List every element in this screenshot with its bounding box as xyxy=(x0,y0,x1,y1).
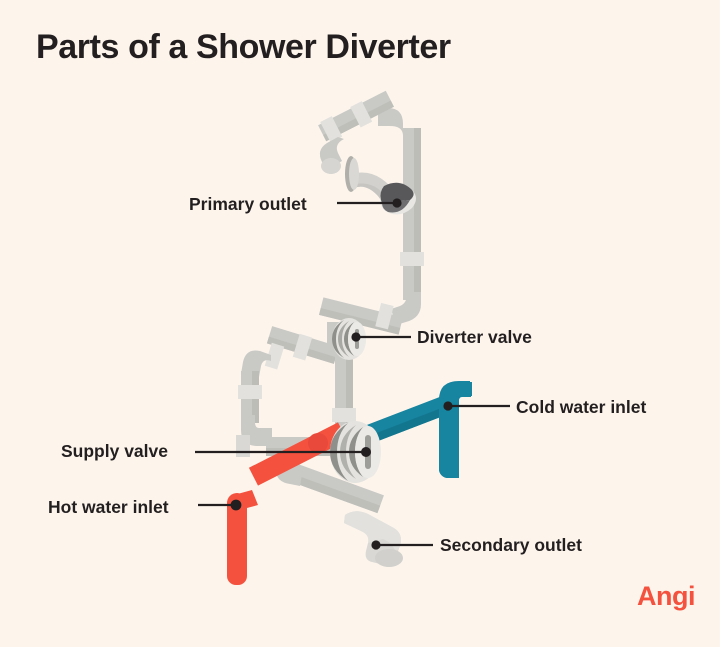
leader-dot-primary-outlet xyxy=(392,198,401,207)
pipe-coupling-bottom-left xyxy=(236,435,250,457)
label-supply-valve: Supply valve xyxy=(61,441,168,462)
pipe-coupling-mid-upper xyxy=(400,252,424,266)
leader-dot-cold-water-inlet xyxy=(443,401,452,410)
leader-dot-secondary-outlet xyxy=(371,540,380,549)
label-cold-water-inlet: Cold water inlet xyxy=(516,397,646,418)
pipe-riser-shadow xyxy=(414,128,421,252)
pipe-coupling-vertical-left xyxy=(238,385,262,399)
label-primary-outlet: Primary outlet xyxy=(189,194,307,215)
label-hot-water-inlet: Hot water inlet xyxy=(48,497,169,518)
shower-arm-flange xyxy=(345,156,359,192)
pipe-assembly xyxy=(236,91,424,567)
tub-spout-icon xyxy=(344,511,403,567)
angi-logo: Angi xyxy=(637,581,695,612)
label-secondary-outlet: Secondary outlet xyxy=(440,535,582,556)
diverter-valve-knob-icon xyxy=(332,318,366,360)
shower-diverter-diagram xyxy=(0,0,720,647)
pipe-cap-upper-left xyxy=(321,158,341,174)
leader-dot-supply-valve xyxy=(361,447,371,457)
leader-dot-diverter-valve xyxy=(351,332,360,341)
cold-water-inlet-pipe xyxy=(364,381,472,478)
infographic-canvas: Parts of a Shower Diverter xyxy=(0,0,720,647)
leader-dot-hot-water-inlet xyxy=(231,500,242,511)
label-diverter-valve: Diverter valve xyxy=(417,327,532,348)
pipe-coupling-vertical-center xyxy=(332,408,356,422)
